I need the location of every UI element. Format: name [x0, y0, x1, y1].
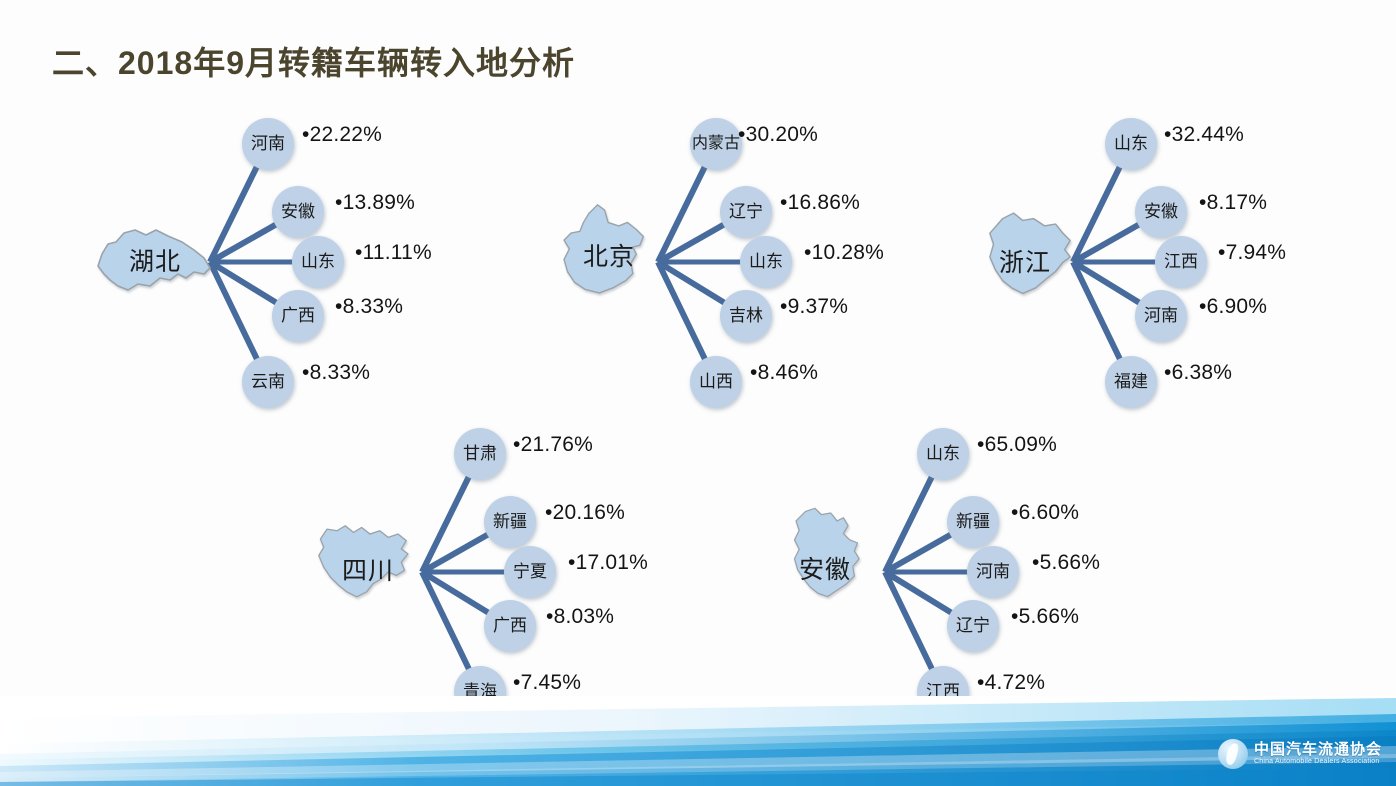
logo-mark-icon — [1218, 739, 1248, 769]
node-3-anhui[interactable]: 河南 — [967, 546, 1019, 598]
node-1-sichuan[interactable]: 甘肃 — [454, 428, 506, 480]
value-2-hubei: •13.89% — [335, 191, 415, 215]
value-5-sichuan: •7.45% — [513, 671, 581, 695]
node-2-zhejiang[interactable]: 安徽 — [1135, 186, 1187, 238]
node-4-beijing[interactable]: 吉林 — [720, 290, 772, 342]
value-3-beijing: •10.28% — [804, 241, 884, 265]
node-4-sichuan[interactable]: 广西 — [484, 600, 536, 652]
node-4-anhui[interactable]: 辽宁 — [947, 600, 999, 652]
association-logo: 中国汽车流通协会 China Automobile Dealers Associ… — [1218, 736, 1382, 772]
map-shape-beijing: 北京 — [544, 196, 674, 314]
node-5-beijing[interactable]: 山西 — [690, 356, 742, 408]
cluster-anhui: 安徽 山东 •65.09% 新疆 •6.60% 河南 •5.66% 辽宁 •5.… — [755, 410, 1185, 730]
value-5-hubei: •8.33% — [302, 361, 370, 385]
slide-canvas: 二、2018年9月转籍车辆转入地分析 湖北 河南 •22.22% 安徽 •13.… — [0, 0, 1396, 786]
value-1-anhui: •65.09% — [977, 433, 1057, 457]
value-5-beijing: •8.46% — [750, 361, 818, 385]
page-title: 二、2018年9月转籍车辆转入地分析 — [52, 38, 575, 84]
node-3-sichuan[interactable]: 宁夏 — [504, 546, 556, 598]
value-2-beijing: •16.86% — [780, 191, 860, 215]
map-shape-zhejiang: 浙江 — [965, 204, 1085, 318]
value-1-hubei: •22.22% — [302, 123, 382, 147]
value-2-sichuan: •20.16% — [545, 501, 625, 525]
cluster-beijing: 北京 内蒙古 •30.20% 辽宁 •16.86% 山东 •10.28% 吉林 … — [540, 100, 970, 420]
value-4-hubei: •8.33% — [335, 295, 403, 319]
value-2-anhui: •6.60% — [1011, 501, 1079, 525]
logo-text-en: China Automobile Dealers Association — [1254, 758, 1382, 765]
logo-text-cn: 中国汽车流通协会 — [1254, 742, 1382, 758]
node-1-hubei[interactable]: 河南 — [242, 118, 294, 170]
cluster-zhejiang: 浙江 山东 •32.44% 安徽 •8.17% 江西 •7.94% 河南 •6.… — [965, 100, 1395, 420]
node-1-zhejiang[interactable]: 山东 — [1105, 118, 1157, 170]
value-1-beijing: •30.20% — [738, 123, 818, 147]
value-1-zhejiang: •32.44% — [1164, 123, 1244, 147]
map-shape-anhui: 安徽 — [761, 502, 889, 634]
cluster-hubei: 湖北 河南 •22.22% 安徽 •13.89% 山东 •11.11% 广西 •… — [90, 100, 520, 420]
node-1-anhui[interactable]: 山东 — [917, 428, 969, 480]
value-4-beijing: •9.37% — [780, 295, 848, 319]
value-5-anhui: •4.72% — [977, 671, 1045, 695]
map-shape-hubei: 湖北 — [90, 208, 220, 312]
node-5-zhejiang[interactable]: 福建 — [1105, 356, 1157, 408]
value-4-sichuan: •8.03% — [546, 605, 614, 629]
value-1-sichuan: •21.76% — [513, 433, 593, 457]
value-3-sichuan: •17.01% — [568, 551, 648, 575]
value-5-zhejiang: •6.38% — [1164, 361, 1232, 385]
node-3-zhejiang[interactable]: 江西 — [1155, 236, 1207, 288]
cluster-sichuan: 四川 甘肃 •21.76% 新疆 •20.16% 宁夏 •17.01% 广西 •… — [300, 410, 730, 730]
value-4-anhui: •5.66% — [1011, 605, 1079, 629]
value-4-zhejiang: •6.90% — [1199, 295, 1267, 319]
node-3-hubei[interactable]: 山东 — [292, 236, 344, 288]
footer-decoration: 中国汽车流通协会 China Automobile Dealers Associ… — [0, 696, 1396, 786]
node-3-beijing[interactable]: 山东 — [740, 236, 792, 288]
node-4-hubei[interactable]: 广西 — [272, 290, 324, 342]
node-2-sichuan[interactable]: 新疆 — [484, 496, 536, 548]
node-2-anhui[interactable]: 新疆 — [947, 496, 999, 548]
node-1-beijing[interactable]: 内蒙古 — [690, 118, 742, 170]
node-4-zhejiang[interactable]: 河南 — [1135, 290, 1187, 342]
value-3-hubei: •11.11% — [355, 241, 432, 265]
value-2-zhejiang: •8.17% — [1199, 191, 1267, 215]
value-3-anhui: •5.66% — [1032, 551, 1100, 575]
node-2-hubei[interactable]: 安徽 — [272, 186, 324, 238]
map-shape-sichuan: 四川 — [300, 506, 436, 632]
node-2-beijing[interactable]: 辽宁 — [720, 186, 772, 238]
node-5-hubei[interactable]: 云南 — [242, 356, 294, 408]
value-3-zhejiang: •7.94% — [1218, 241, 1286, 265]
